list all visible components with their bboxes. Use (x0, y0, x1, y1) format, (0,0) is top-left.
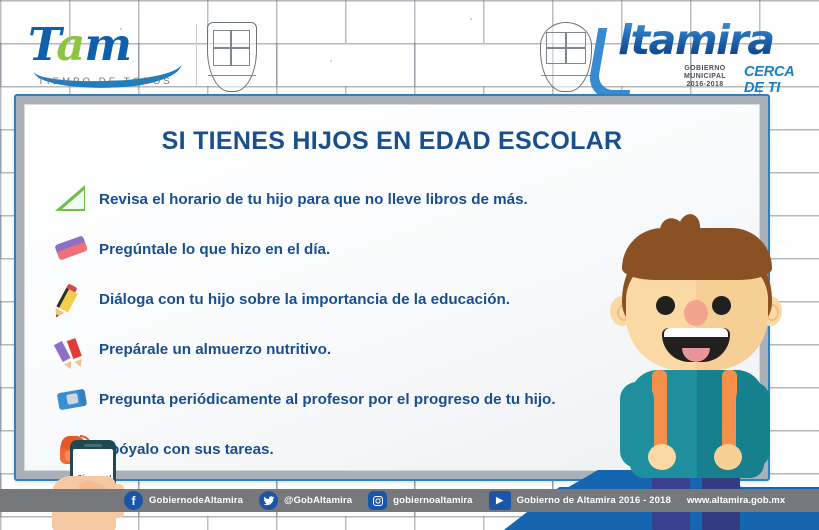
twitter-icon[interactable] (259, 491, 278, 510)
poster-canvas: Tam TIEMPO DE TODOS ltamira GOBIERNO MUN… (0, 0, 819, 530)
pencil-icon (51, 279, 99, 319)
footer-link-youtube[interactable]: ▶ Gobierno de Altamira 2016 - 2018 (489, 491, 671, 510)
altamira-logo-wordmark: ltamira (618, 20, 773, 61)
header-divider (196, 24, 197, 86)
facebook-icon[interactable]: f (124, 491, 143, 510)
tam-logo: Tam TIEMPO DE TODOS (28, 26, 188, 88)
youtube-icon[interactable]: ▶ (489, 491, 511, 510)
shield-base (541, 75, 591, 87)
phone-speaker (84, 444, 102, 447)
altamira-logo-gobierno: GOBIERNO MUNICIPAL 2016-2018 (672, 65, 738, 89)
sharpener-icon (51, 379, 99, 419)
footer-social-links: f GobiernodeAltamira @GobAltamira gobier… (0, 489, 819, 512)
gobierno-text: GOBIERNO MUNICIPAL (684, 65, 726, 80)
list-item-label: Prepárale un almuerzo nutritivo. (99, 341, 331, 358)
footer-link-twitter[interactable]: @GobAltamira (259, 491, 352, 510)
footer-link-facebook[interactable]: f GobiernodeAltamira (124, 491, 243, 510)
brick-speck (330, 60, 332, 62)
list-item-label: Pregunta periódicamente al profesor por … (99, 391, 556, 408)
boy-nose (684, 300, 708, 326)
footer-link-label: gobiernoaltamira (393, 495, 472, 506)
schoolboy-illustration (600, 222, 790, 512)
tam-logo-tagline: TIEMPO DE TODOS (38, 76, 173, 87)
shield-quarters (546, 30, 586, 75)
list-item-label: Revisa el horario de tu hijo para que no… (99, 191, 528, 208)
footer-link-label: GobiernodeAltamira (149, 495, 243, 506)
footer-link-instagram[interactable]: gobiernoaltamira (368, 491, 472, 510)
footer-link-label: Gobierno de Altamira 2016 - 2018 (517, 495, 671, 506)
ruler-icon (51, 179, 99, 219)
list-item-label: Diáloga con tu hijo sobre la importancia… (99, 291, 510, 308)
list-item: Revisa el horario de tu hijo para que no… (51, 177, 741, 221)
boy-eye-right (712, 296, 731, 315)
altamira-coat-of-arms-icon (540, 22, 592, 92)
footer-website-url[interactable]: www.altamira.gob.mx (687, 495, 785, 506)
hand-holding-phone-illustration: ¡Síguenos! (52, 440, 148, 530)
eraser-icon (51, 229, 99, 269)
list-item-label: Pregúntale lo que hizo en el día. (99, 241, 330, 258)
instagram-icon[interactable] (368, 491, 387, 510)
shield-base (208, 75, 256, 87)
shield-quarters (213, 30, 251, 75)
boy-teeth (664, 328, 728, 337)
boy-hand-right (714, 444, 742, 470)
boy-fringe (622, 228, 772, 280)
boy-eye-left (656, 296, 675, 315)
altamira-logo-slogan: CERCA DE TI (744, 64, 796, 96)
tamaulipas-coat-of-arms-icon (207, 22, 257, 92)
page-title: SI TIENES HIJOS EN EDAD ESCOLAR (25, 127, 759, 156)
gobierno-years: 2016-2018 (686, 81, 723, 88)
brick-speck (470, 18, 472, 20)
altamira-logo: ltamira GOBIERNO MUNICIPAL 2016-2018 CER… (596, 22, 796, 92)
colored-pencils-icon (51, 329, 99, 369)
footer-link-label: @GobAltamira (284, 495, 352, 506)
boy-hand-left (648, 444, 676, 470)
